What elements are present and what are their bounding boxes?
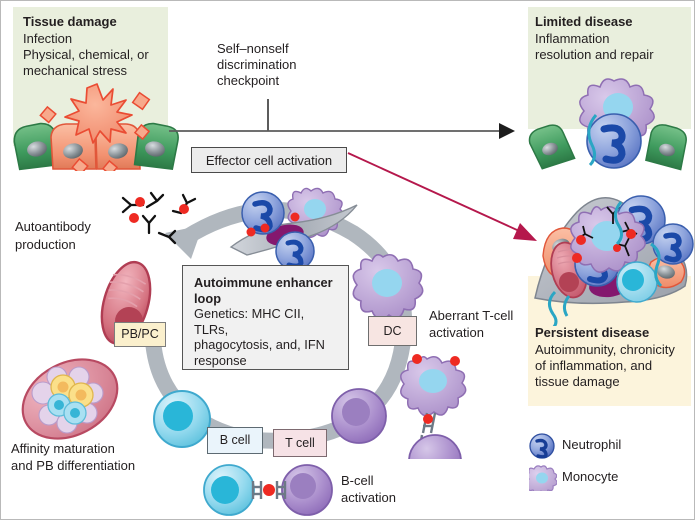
bcell-activation-illustration [199,463,337,519]
tissue-damage-heading: Tissue damage [23,14,117,30]
checkpoint-line-3: checkpoint [217,73,279,89]
persistent-disease-illustration [525,186,695,326]
bcell-activation-label-2: activation [341,490,396,506]
tcell-activation-illustration [397,349,493,459]
autoantibody-label-2: production [15,237,76,253]
limited-disease-illustration [526,73,695,173]
enhancer-body-line-1: Genetics: MHC CII, TLRs, [194,306,338,337]
label-b-cell[interactable]: B cell [207,427,263,454]
autoantibody-label-1: Autoantibody [15,219,91,235]
germinal-centre-icon [11,349,129,449]
tissue-damage-line-1: Infection [23,31,72,47]
enhancer-body-line-2: phagocytosis, and, IFN [194,337,338,353]
affinity-label-2: and PB differentiation [11,458,135,474]
label-dc[interactable]: DC [368,316,417,346]
label-pb-pc[interactable]: PB/PC [114,322,166,347]
enhancer-heading-line-1: Autoimmune enhancer [194,275,338,291]
checkpoint-line-1: Self–nonself [217,41,289,57]
t-cell-loop-icon [327,384,391,448]
netosis-illustration [229,185,369,275]
persistent-disease-line-2: of inflammation, and [535,358,652,374]
persistent-disease-line-1: Autoimmunity, chronicity [535,342,675,358]
neutrophil-icon [529,433,555,459]
legend-label-monocyte: Monocyte [562,469,618,485]
tissue-damage-line-3: mechanical stress [23,63,127,79]
tcell-activation-label-2: activation [429,325,484,341]
limited-disease-line-1: Inflammation [535,31,609,47]
persistent-disease-line-3: tissue damage [535,374,620,390]
effector-cell-activation-box[interactable]: Effector cell activation [191,147,347,173]
main-progression-arrow [169,121,517,143]
tissue-damage-line-2: Physical, chemical, or [23,47,149,63]
persistent-disease-heading: Persistent disease [535,325,649,341]
figure-canvas: Tissue damage Infection Physical, chemic… [0,0,695,520]
limited-disease-heading: Limited disease [535,14,633,30]
enhancer-body-line-3: response [194,353,338,369]
tissue-damage-illustration [13,81,183,171]
checkpoint-line-2: discrimination [217,57,296,73]
tcell-activation-label-1: Aberrant T-cell [429,308,513,324]
autoantibody-icons [113,189,203,253]
label-t-cell[interactable]: T cell [273,429,327,457]
bcell-activation-label-1: B-cell [341,473,374,489]
autoimmune-enhancer-loop-box[interactable]: Autoimmune enhancer loop Genetics: MHC C… [182,265,349,370]
limited-disease-line-2: resolution and repair [535,47,654,63]
legend-label-neutrophil: Neutrophil [562,437,621,453]
affinity-label-1: Affinity maturation [11,441,115,457]
b-cell-loop-icon [149,386,215,452]
enhancer-heading-line-2: loop [194,291,338,307]
monocyte-icon [529,465,557,491]
